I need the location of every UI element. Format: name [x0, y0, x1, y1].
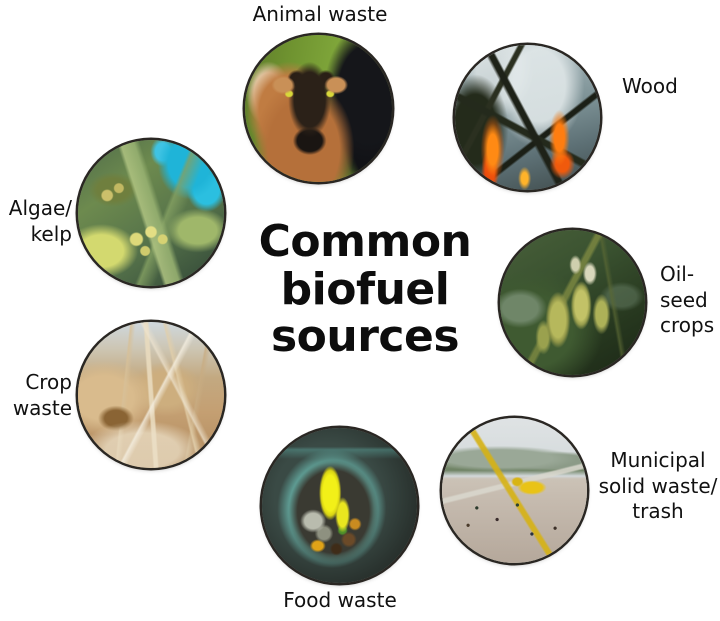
- wood-photo[interactable]: [455, 45, 600, 190]
- food-waste-label: Food waste: [255, 588, 425, 614]
- food-scraps: [262, 428, 417, 583]
- food-waste-photo[interactable]: [262, 428, 417, 583]
- stalk-debris: [78, 322, 224, 468]
- municipal-waste-photo[interactable]: [442, 418, 587, 563]
- crop-waste-label: Crop waste: [0, 370, 72, 421]
- animal-waste-label: Animal waste: [245, 2, 395, 28]
- algae-label: Algae/ kelp: [0, 196, 72, 247]
- crop-waste-photo[interactable]: [78, 322, 224, 468]
- municipal-waste-label: Municipal solid waste/ trash: [596, 448, 720, 525]
- oilseed-label: Oil- seed crops: [660, 262, 718, 339]
- soybean-pods: [500, 230, 645, 375]
- algae-photo[interactable]: [78, 140, 224, 286]
- wood-label: Wood: [622, 74, 718, 100]
- cow-ears: [245, 35, 392, 182]
- oilseed-photo[interactable]: [500, 230, 645, 375]
- page-title: Common biofuel sources: [230, 218, 500, 361]
- scattered-debris: [442, 418, 587, 563]
- flames: [455, 45, 600, 190]
- animal-waste-photo[interactable]: [245, 35, 392, 182]
- infographic-canvas: Common biofuel sources Animal waste Wood: [0, 0, 720, 621]
- kelp-air-bladders: [78, 140, 224, 286]
